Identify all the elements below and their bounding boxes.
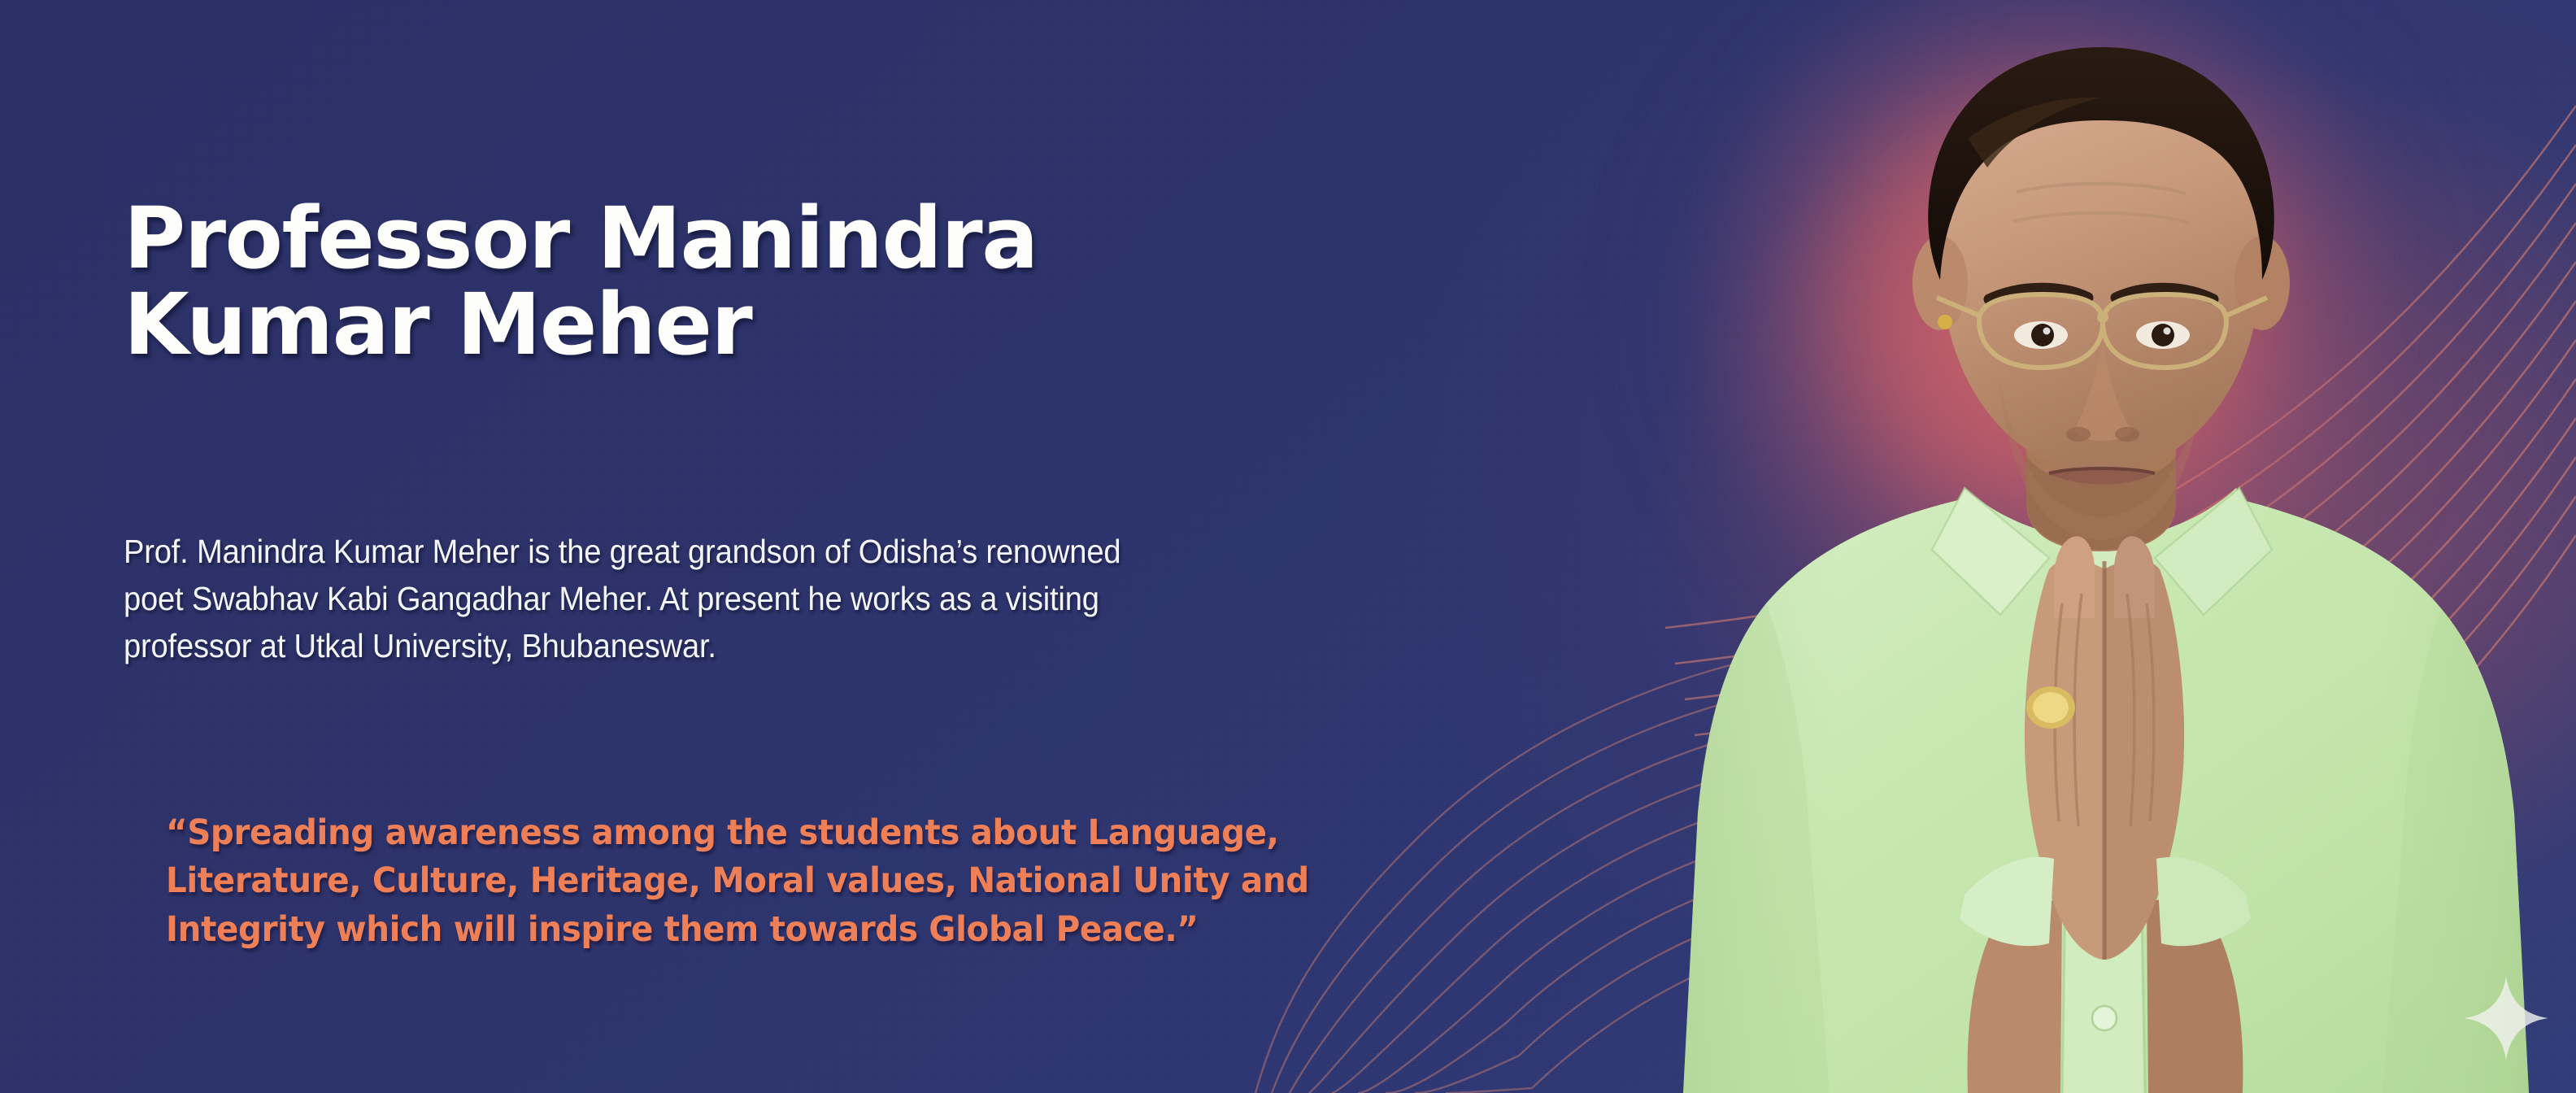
biography-line-2: poet Swabhav Kabi Gangadhar Meher. At pr… — [124, 575, 1394, 622]
biography-paragraph: Prof. Manindra Kumar Meher is the great … — [124, 528, 1394, 670]
page-title: Professor Manindra Kumar Meher — [124, 195, 1506, 368]
portrait-photo — [1480, 0, 2576, 1093]
page-title-line-2: Kumar Meher — [124, 281, 1506, 368]
biography-line-3: professor at Utkal University, Bhubanesw… — [124, 622, 1394, 669]
mission-quote: “Spreading awareness among the students … — [166, 809, 1481, 954]
mission-quote-line-3: Integrity which will inspire them toward… — [166, 906, 1481, 954]
mission-quote-line-2: Literature, Culture, Heritage, Moral val… — [166, 857, 1481, 905]
biography-line-1: Prof. Manindra Kumar Meher is the great … — [124, 528, 1394, 575]
four-point-sparkle-icon — [2462, 973, 2550, 1064]
portrait-container — [1480, 0, 2576, 1093]
page-title-line-1: Professor Manindra — [124, 195, 1506, 281]
text-column: Professor Manindra Kumar Meher Prof. Man… — [124, 0, 1506, 1093]
mission-quote-line-1: “Spreading awareness among the students … — [166, 809, 1481, 857]
profile-banner: Professor Manindra Kumar Meher Prof. Man… — [0, 0, 2576, 1093]
